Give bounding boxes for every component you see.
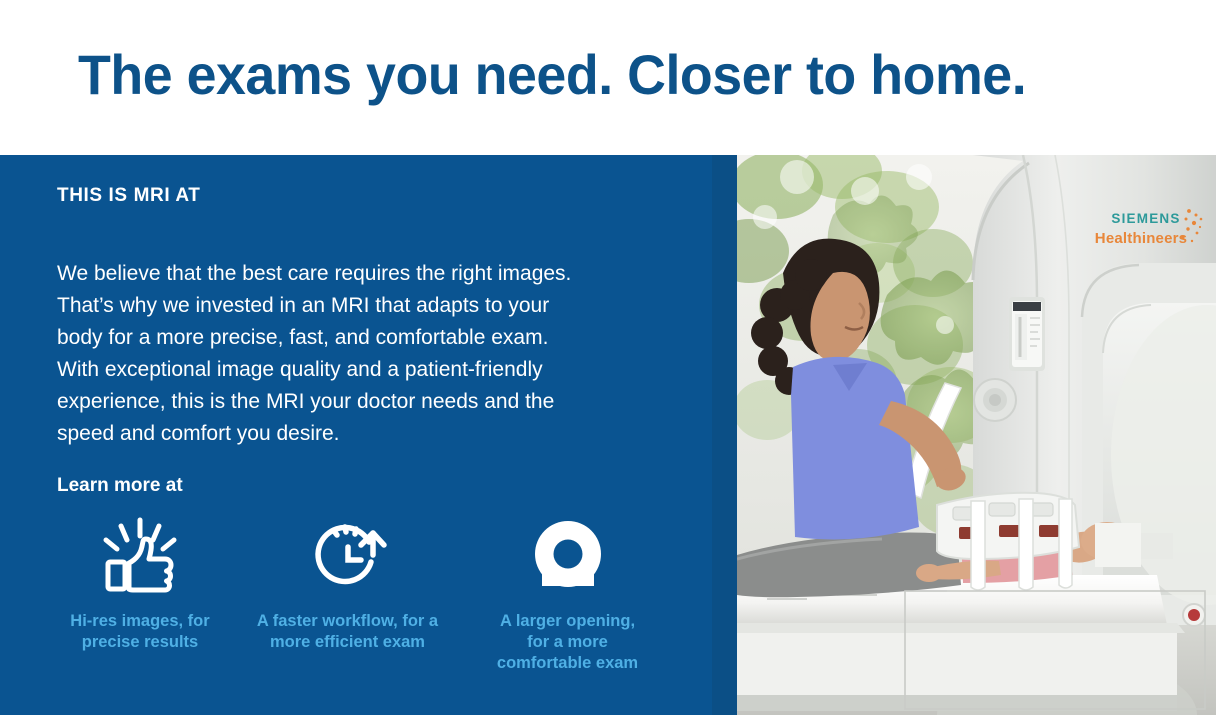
bore-ring-icon xyxy=(525,515,611,597)
body-line: That’s why we invested in an MRI that ad… xyxy=(57,290,667,322)
panel-body: We believe that the best care requires t… xyxy=(57,258,667,450)
feature-item-faster-workflow: A faster workflow, for a more efficient … xyxy=(240,515,455,653)
body-line: experience, this is the MRI your doctor … xyxy=(57,386,667,418)
header-band: The exams you need. Closer to home. xyxy=(0,0,1216,155)
body-line: With exceptional image quality and a pat… xyxy=(57,354,667,386)
mri-scanner-photo: SIEMENS Healthineers xyxy=(737,155,1216,715)
learn-more-label: Learn more at xyxy=(57,475,183,497)
page-title: The exams you need. Closer to home. xyxy=(78,40,1124,110)
feature-item-hi-res: Hi-res images, for precise results xyxy=(40,515,240,653)
clock-arrow-icon xyxy=(305,515,391,597)
siemens-wordmark: SIEMENS xyxy=(1111,211,1180,226)
feature-item-larger-opening: A larger opening, for a more comfortable… xyxy=(455,515,680,674)
feature-label: A larger opening, for a more comfortable… xyxy=(478,611,658,674)
body-line: We believe that the best care requires t… xyxy=(57,258,667,290)
panel-kicker: THIS IS MRI AT xyxy=(57,185,201,207)
panel-edge-strip xyxy=(712,155,737,715)
marketing-poster: The exams you need. Closer to home. THIS… xyxy=(0,0,1216,715)
feature-label: A faster workflow, for a more efficient … xyxy=(240,611,455,653)
body-line: body for a more precise, fast, and comfo… xyxy=(57,322,667,354)
thumbs-up-icon xyxy=(97,515,183,597)
feature-label: Hi-res images, for precise results xyxy=(55,611,225,653)
feature-list: Hi-res images, for precise results xyxy=(40,515,700,705)
body-line: speed and comfort you desire. xyxy=(57,418,667,450)
info-panel: THIS IS MRI AT We believe that the best … xyxy=(0,155,712,715)
healthineers-wordmark: Healthineers xyxy=(1095,230,1187,247)
